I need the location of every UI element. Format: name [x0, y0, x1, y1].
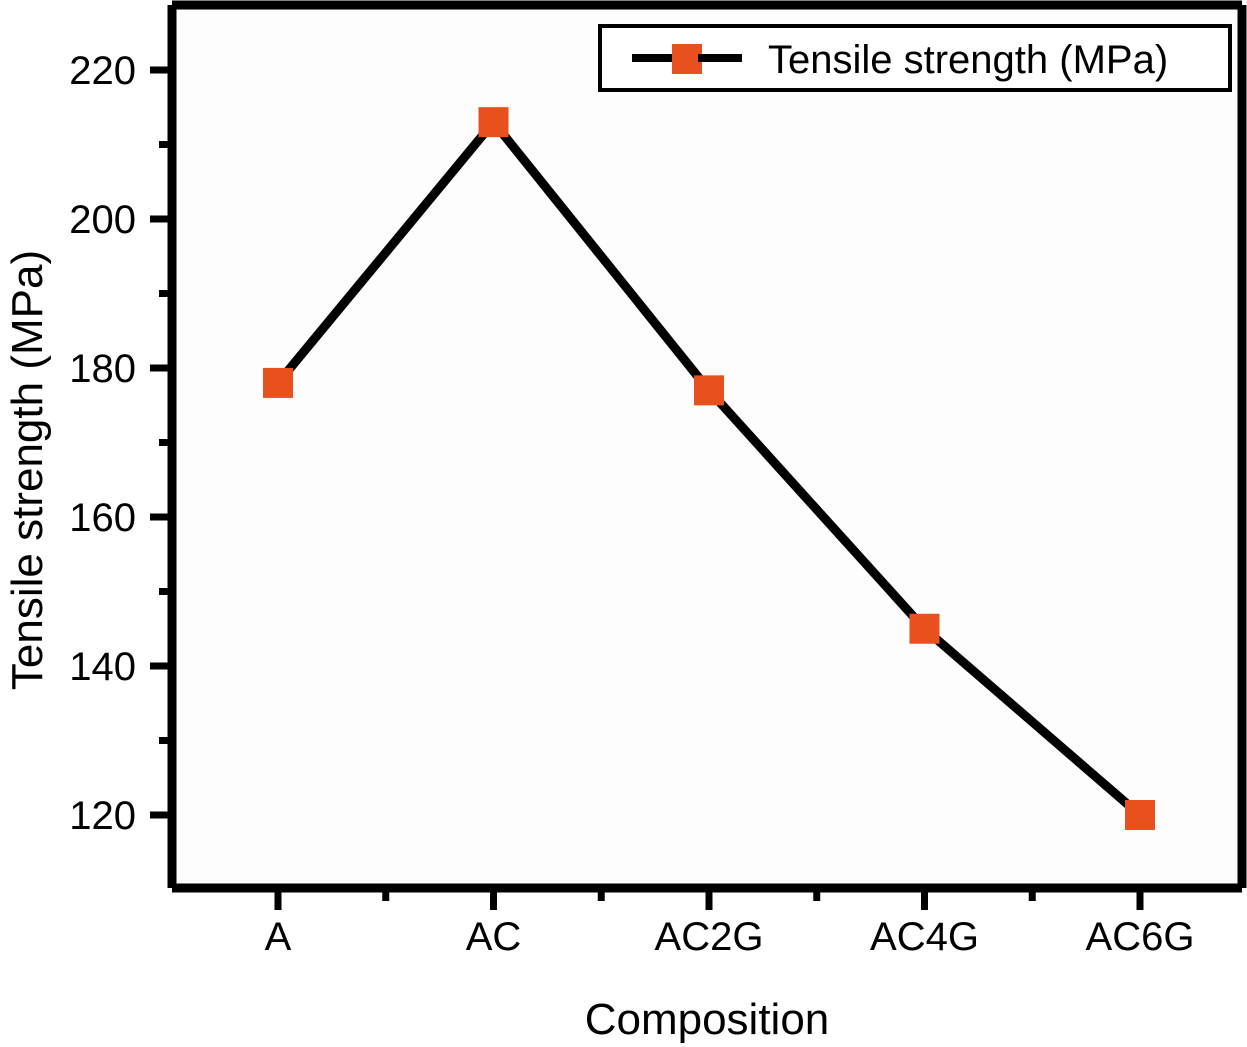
- legend-label-tensile-strength: Tensile strength (MPa): [768, 38, 1168, 82]
- data-point-marker[interactable]: [694, 375, 724, 405]
- x-axis-tick-label: A: [265, 915, 292, 959]
- y-axis-tick-label: 140: [69, 645, 136, 689]
- y-axis-tick-label: 160: [69, 496, 136, 540]
- data-point-marker[interactable]: [1125, 800, 1155, 830]
- y-axis-tick-label: 200: [69, 198, 136, 242]
- data-point-marker[interactable]: [910, 614, 940, 644]
- x-axis-tick-label: AC2G: [655, 915, 764, 959]
- tensile-strength-line-chart: 220200180160140120 AACAC2GAC4GAC6G Tensi…: [0, 0, 1247, 1047]
- y-axis-tick-labels: 220200180160140120: [69, 49, 136, 838]
- y-axis-tick-label: 180: [69, 347, 136, 391]
- plot-area-background: [172, 5, 1242, 888]
- chart-figure: 220200180160140120 AACAC2GAC4GAC6G Tensi…: [0, 0, 1247, 1047]
- y-axis-title: Tensile strength (MPa): [3, 250, 52, 690]
- x-axis-tick-label: AC4G: [870, 915, 979, 959]
- data-point-marker[interactable]: [479, 107, 509, 137]
- legend-marker-square: [672, 44, 702, 74]
- data-point-marker[interactable]: [263, 368, 293, 398]
- chart-legend: Tensile strength (MPa): [600, 26, 1230, 90]
- y-axis-tick-label: 220: [69, 49, 136, 93]
- y-axis-tick-label: 120: [69, 794, 136, 838]
- x-axis-tick-labels: AACAC2GAC4GAC6G: [265, 915, 1195, 959]
- x-axis-tick-label: AC: [466, 915, 522, 959]
- x-axis-title: Composition: [585, 995, 830, 1044]
- x-axis-tick-label: AC6G: [1086, 915, 1195, 959]
